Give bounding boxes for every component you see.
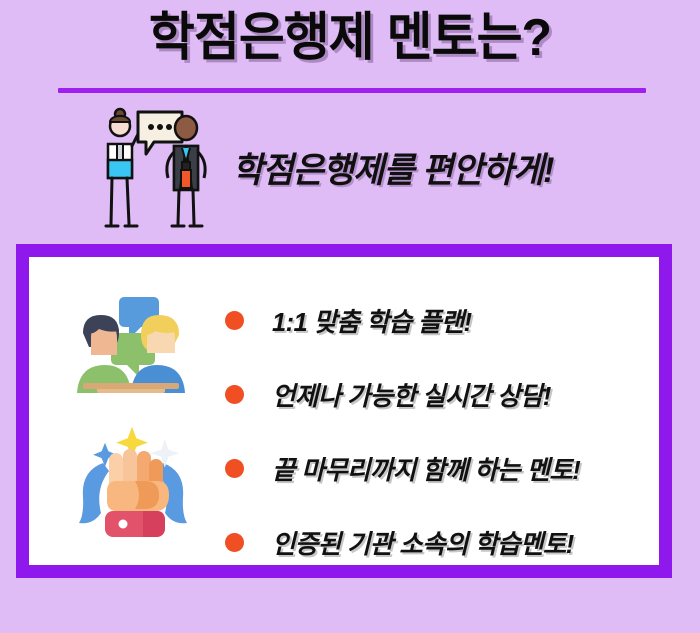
subtitle-text: 학점은행제를 편안하게! (232, 142, 553, 193)
discussion-icon (67, 289, 195, 399)
list-item-label: 1:1 맞춤 학습 플랜! (272, 302, 472, 339)
benefits-list: 1:1 맞춤 학습 플랜! 언제나 가능한 실시간 상담! 끝 마무리까지 함께… (225, 283, 653, 579)
promo-poster: 학점은행제 멘토는? (0, 0, 700, 633)
two-people-talking-icon (96, 106, 228, 232)
list-item-label: 언제나 가능한 실시간 상담! (272, 376, 551, 413)
subtitle-band: 학점은행제를 편안하게! (0, 100, 700, 236)
list-item: 인증된 기관 소속의 학습멘토! (225, 505, 653, 579)
list-item-label: 인증된 기관 소속의 학습멘토! (272, 524, 574, 561)
bullet-dot-icon (225, 533, 244, 552)
bullet-dot-icon (225, 385, 244, 404)
page-title: 학점은행제 멘토는? (14, 8, 686, 69)
list-item: 끝 마무리까지 함께 하는 멘토! (225, 431, 653, 505)
list-item: 1:1 맞춤 학습 플랜! (225, 283, 653, 357)
bullet-dot-icon (225, 459, 244, 478)
list-item: 언제나 가능한 실시간 상담! (225, 357, 653, 431)
bullet-dot-icon (225, 311, 244, 330)
benefits-card-inner: 1:1 맞춤 학습 플랜! 언제나 가능한 실시간 상담! 끝 마무리까지 함께… (29, 257, 659, 565)
header: 학점은행제 멘토는? (0, 0, 700, 100)
fist-power-icon (73, 419, 193, 547)
benefits-card: 1:1 맞춤 학습 플랜! 언제나 가능한 실시간 상담! 끝 마무리까지 함께… (16, 244, 672, 578)
title-divider (58, 88, 646, 93)
list-item-label: 끝 마무리까지 함께 하는 멘토! (272, 450, 580, 487)
